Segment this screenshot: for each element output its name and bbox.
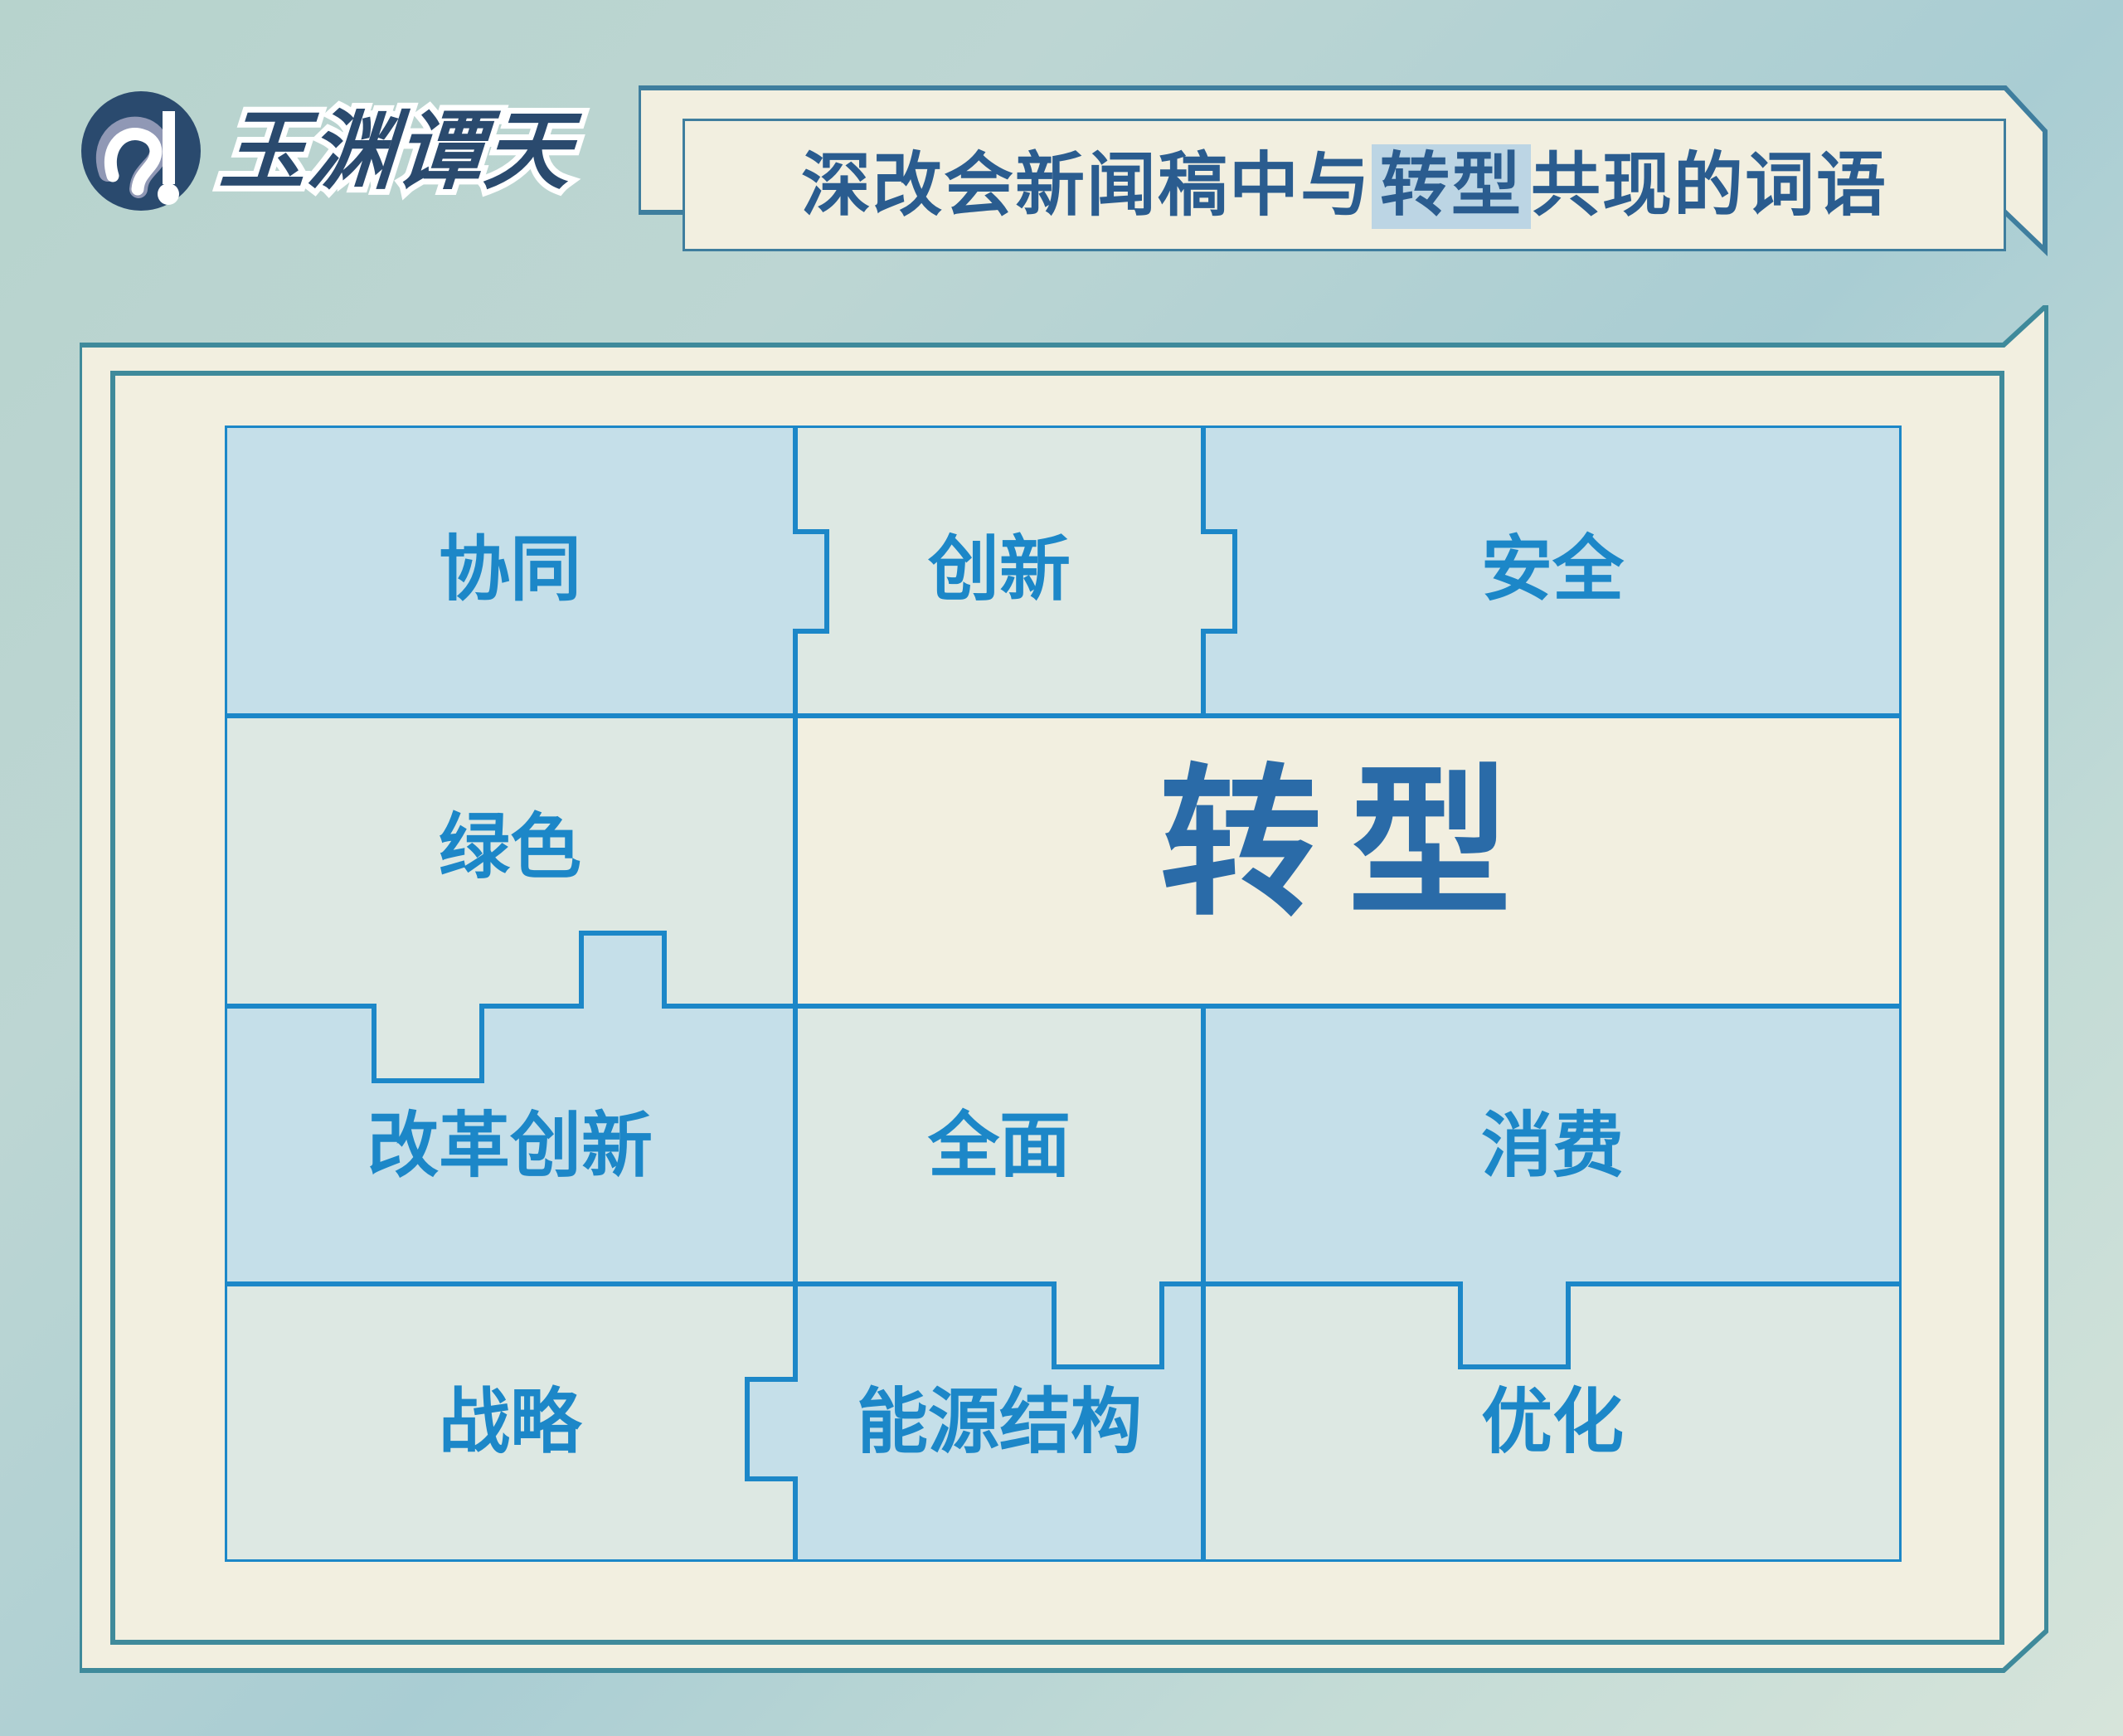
question-mark-circle-logo xyxy=(80,90,202,212)
main-content-frame: 协同 创新 安全 绿色 转型 改革创新 全面 消费 战略 能源结构 优化 xyxy=(80,305,2048,1674)
title-highlight-word: 转型 xyxy=(1372,144,1531,229)
page-title: 深改会新闻稿中与转型共现的词语 xyxy=(801,150,1887,220)
title-prefix: 深改会新闻稿中与 xyxy=(801,146,1372,224)
title-banner: 深改会新闻稿中与转型共现的词语 xyxy=(639,73,2048,264)
puzzle-label-xietong: 协同 xyxy=(439,530,581,610)
puzzle-label-chuangxin: 创新 xyxy=(928,530,1071,610)
puzzle-label-gaigechuangxin: 改革创新 xyxy=(367,1106,653,1186)
title-suffix: 共现的词语 xyxy=(1531,146,1887,224)
puzzle-label-lvse: 绿色 xyxy=(439,808,581,887)
puzzle-label-xiaofei: 消费 xyxy=(1481,1106,1624,1186)
brand-logo-block: 玉渊谭天 xyxy=(80,90,572,212)
puzzle-label-anquan: 安全 xyxy=(1481,530,1625,610)
puzzle-label-zhuanxing-center: 转型 xyxy=(1159,753,1538,935)
puzzle-label-zhanlue: 战略 xyxy=(439,1383,583,1462)
brand-name: 玉渊谭天 xyxy=(217,108,575,194)
puzzle-label-nengyuanjiegou: 能源结构 xyxy=(857,1383,1142,1462)
word-cooccurrence-puzzle-grid: 协同 创新 安全 绿色 转型 改革创新 全面 消费 战略 能源结构 优化 xyxy=(225,425,1902,1562)
puzzle-label-quanmian: 全面 xyxy=(927,1106,1071,1186)
puzzle-svg: 协同 创新 安全 绿色 转型 改革创新 全面 消费 战略 能源结构 优化 xyxy=(225,425,1902,1562)
puzzle-label-youhua: 优化 xyxy=(1481,1383,1624,1462)
